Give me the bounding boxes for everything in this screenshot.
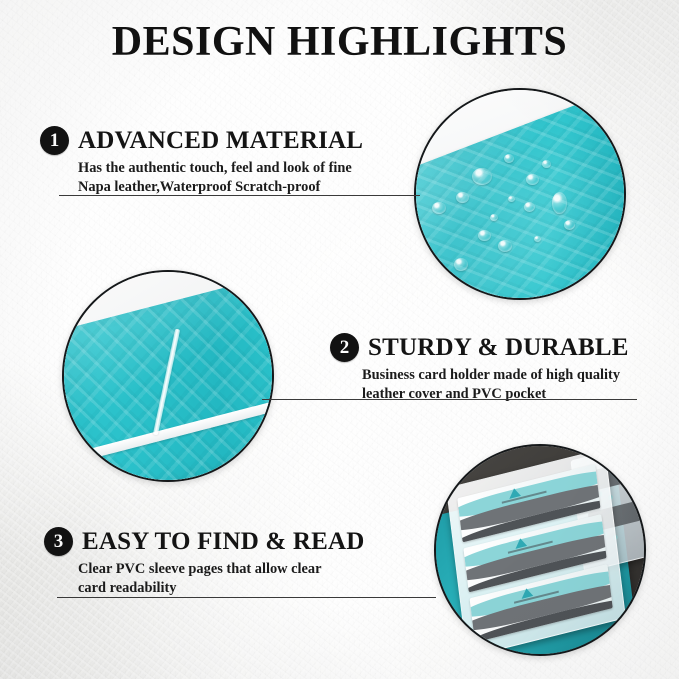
highlight-1-number-badge: 1 xyxy=(40,126,69,155)
water-droplet xyxy=(472,168,492,185)
highlight-1: 1 ADVANCED MATERIAL Has the authentic to… xyxy=(40,126,400,197)
water-droplet xyxy=(498,240,512,252)
highlight-3-body-line-2: card readability xyxy=(78,579,384,598)
highlight-1-heading: ADVANCED MATERIAL xyxy=(78,127,363,155)
highlight-3-heading: EASY TO FIND & READ xyxy=(82,528,365,556)
water-droplet xyxy=(564,220,575,230)
water-droplet xyxy=(432,202,446,214)
highlight-2: 2 STURDY & DURABLE Business card holder … xyxy=(330,333,660,404)
water-droplet xyxy=(504,154,514,163)
highlight-2-number-badge: 2 xyxy=(330,333,359,362)
highlight-1-rule xyxy=(59,195,419,196)
page-title: DESIGN HIGHLIGHTS xyxy=(0,18,679,66)
teal-leather-water-droplets-photo xyxy=(414,88,626,300)
connector-line-2 xyxy=(262,399,288,400)
highlight-3-body-line-1: Clear PVC sleeve pages that allow clear xyxy=(78,560,384,579)
water-droplet xyxy=(478,230,491,241)
highlight-2-body-line-2: leather cover and PVC pocket xyxy=(362,385,660,404)
highlight-3-rule xyxy=(57,597,429,598)
water-droplet xyxy=(534,236,541,242)
water-droplet xyxy=(490,214,498,221)
highlight-1-body-line-1: Has the authentic touch, feel and look o… xyxy=(78,159,400,178)
stitched-edge xyxy=(624,97,626,279)
highlight-2-heading: STURDY & DURABLE xyxy=(368,334,629,362)
highlight-3-number-badge: 3 xyxy=(44,527,73,556)
highlight-3: 3 EASY TO FIND & READ Clear PVC sleeve p… xyxy=(44,527,384,598)
water-droplet xyxy=(524,202,535,212)
infographic-page: DESIGN HIGHLIGHTS xyxy=(0,0,679,679)
connector-line-3 xyxy=(406,597,436,598)
water-droplet xyxy=(552,192,567,214)
open-holder-pvc-sleeves-photo xyxy=(434,444,646,656)
water-droplet xyxy=(456,192,469,203)
water-droplet xyxy=(526,174,539,185)
connector-line-1 xyxy=(396,195,420,196)
highlight-2-rule xyxy=(283,399,637,400)
teal-cover-seam-photo xyxy=(62,270,274,482)
water-droplet xyxy=(454,258,468,271)
water-droplet xyxy=(508,196,515,202)
highlight-2-body-line-1: Business card holder made of high qualit… xyxy=(362,366,660,385)
water-droplet xyxy=(542,160,551,168)
